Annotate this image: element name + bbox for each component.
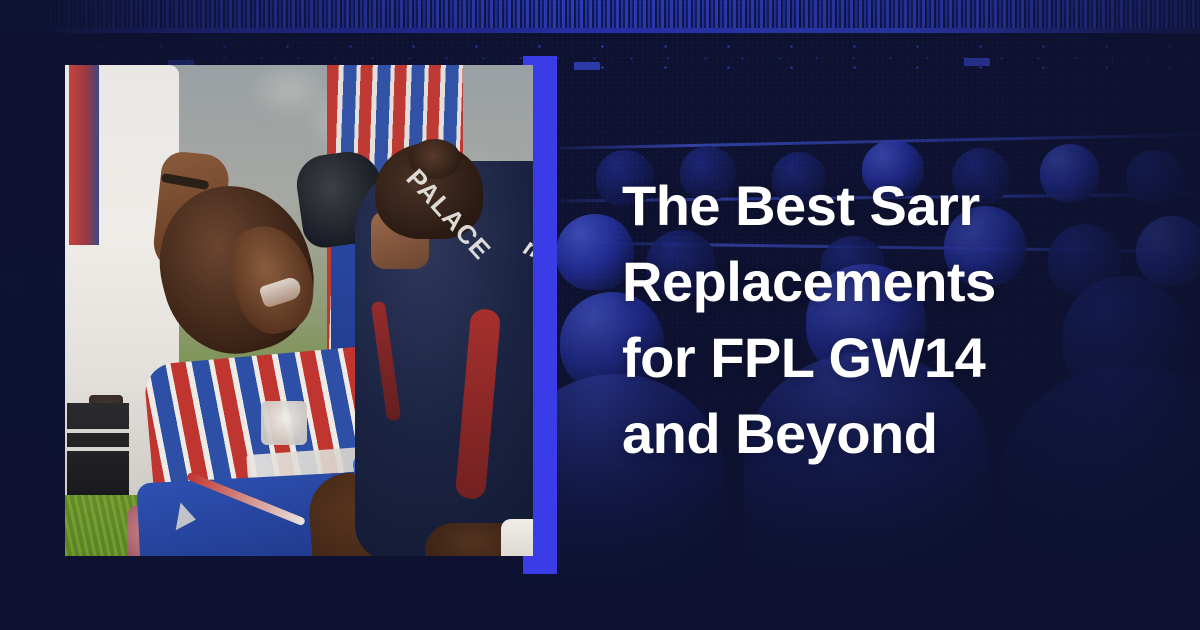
headline: The Best Sarr Replacements for FPL GW14 … — [622, 168, 1092, 472]
kit-stripe — [69, 65, 99, 245]
headline-line-4: and Beyond — [622, 396, 1092, 472]
headline-line-2: Replacements — [622, 244, 1092, 320]
feature-photo: PALACE macron — [65, 65, 533, 556]
player-sock — [67, 403, 129, 495]
premier-league-badge — [261, 401, 307, 445]
headline-line-3: for FPL GW14 — [622, 320, 1092, 396]
physio-sock — [501, 519, 533, 556]
article-hero-banner: PALACE macron The Best Sarr Replacements… — [0, 0, 1200, 630]
headline-line-1: The Best Sarr — [622, 168, 1092, 244]
